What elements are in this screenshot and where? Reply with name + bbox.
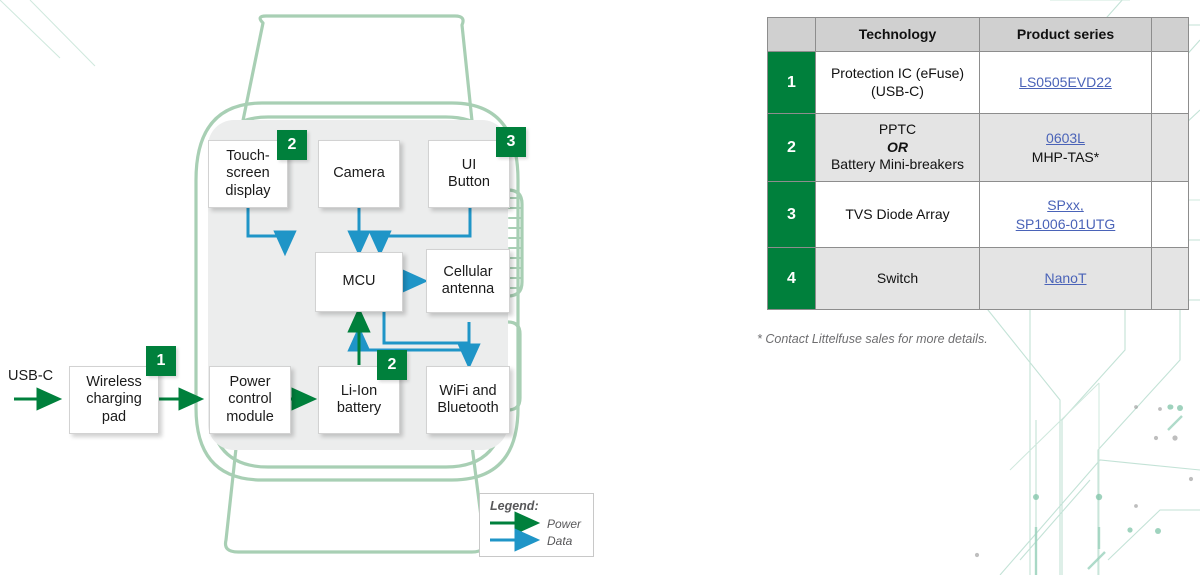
table-row[interactable]: 4 Switch NanoT [768, 248, 1189, 310]
row-technology-3: TVS Diode Array [816, 182, 980, 248]
row-products-4: NanoT [980, 248, 1152, 310]
product-selection-table: Technology Product series 1 Protection I… [767, 17, 1189, 310]
table-header-row: Technology Product series [768, 18, 1189, 52]
row-index-4: 4 [768, 248, 816, 310]
tech-line: PPTC [879, 121, 916, 137]
row-spacer-4 [1152, 248, 1189, 310]
block-label: Cellularantenna [442, 264, 494, 298]
tech-line-or: OR [887, 139, 908, 155]
row-index-1: 1 [768, 52, 816, 114]
legend-data-label: Data [547, 534, 572, 548]
row-spacer-1 [1152, 52, 1189, 114]
header-index [768, 18, 816, 52]
product-link[interactable]: SP1006-01UTG [1016, 216, 1116, 232]
tech-line: Switch [877, 270, 918, 286]
row-products-2: 0603L MHP-TAS* [980, 114, 1152, 182]
block-label: Li-Ionbattery [337, 383, 381, 417]
table-row[interactable]: 3 TVS Diode Array SPxx, SP1006-01UTG [768, 182, 1189, 248]
block-label: Touch-screendisplay [225, 148, 270, 199]
row-products-1: LS0505EVD22 [980, 52, 1152, 114]
badge-touchscreen-display[interactable]: 2 [277, 130, 307, 160]
badge-wireless-charging-pad[interactable]: 1 [146, 346, 176, 376]
row-spacer-3 [1152, 182, 1189, 248]
table-row[interactable]: 2 PPTC OR Battery Mini-breakers 0603L MH… [768, 114, 1189, 182]
power-wires [14, 311, 359, 399]
block-label: WiFi andBluetooth [437, 383, 498, 417]
tech-line: (USB-C) [871, 83, 924, 99]
block-label: MCU [342, 273, 375, 290]
tech-line: Protection IC (eFuse) [831, 65, 964, 81]
tech-line: TVS Diode Array [845, 206, 949, 222]
connector-wires [0, 0, 620, 575]
header-technology: Technology [816, 18, 980, 52]
table-body: 1 Protection IC (eFuse) (USB-C) LS0505EV… [768, 52, 1189, 310]
badge-ui-button[interactable]: 3 [496, 127, 526, 157]
block-label: Powercontrolmodule [226, 374, 274, 425]
row-products-3: SPxx, SP1006-01UTG [980, 182, 1152, 248]
header-spacer [1152, 18, 1189, 52]
row-index-2: 2 [768, 114, 816, 182]
badge-li-ion-battery[interactable]: 2 [377, 350, 407, 380]
product-link[interactable]: LS0505EVD22 [1019, 74, 1112, 90]
block-power-control-module[interactable]: Powercontrolmodule [209, 366, 291, 434]
block-wifi-and-bluetooth[interactable]: WiFi andBluetooth [426, 366, 510, 434]
usb-c-input-label: USB-C [8, 368, 53, 384]
product-link[interactable]: NanoT [1044, 270, 1086, 286]
legend-box: Legend: Power Data [479, 493, 594, 557]
block-label: Wirelesschargingpad [86, 374, 142, 425]
table-footnote: * Contact Littelfuse sales for more deta… [757, 332, 988, 346]
product-link[interactable]: SPxx, [1047, 197, 1084, 213]
legend-power-label: Power [547, 517, 581, 531]
block-wireless-charging-pad[interactable]: Wirelesschargingpad [69, 366, 159, 434]
row-technology-1: Protection IC (eFuse) (USB-C) [816, 52, 980, 114]
block-label: UIButton [448, 157, 490, 191]
smartwatch-block-diagram: USB-C Touch-screendisplay Camera UIButto… [0, 0, 620, 575]
row-spacer-2 [1152, 114, 1189, 182]
product-text: MHP-TAS* [1032, 149, 1099, 165]
product-link[interactable]: 0603L [1046, 130, 1085, 146]
table-row[interactable]: 1 Protection IC (eFuse) (USB-C) LS0505EV… [768, 52, 1189, 114]
block-camera[interactable]: Camera [318, 140, 400, 208]
row-technology-2: PPTC OR Battery Mini-breakers [816, 114, 980, 182]
block-label: Camera [333, 165, 385, 182]
row-technology-4: Switch [816, 248, 980, 310]
tech-line: Battery Mini-breakers [831, 156, 964, 172]
block-touchscreen-display[interactable]: Touch-screendisplay [208, 140, 288, 208]
header-product-series: Product series [980, 18, 1152, 52]
block-cellular-antenna[interactable]: Cellularantenna [426, 249, 510, 313]
block-mcu[interactable]: MCU [315, 252, 403, 312]
row-index-3: 3 [768, 182, 816, 248]
slide-canvas: USB-C Touch-screendisplay Camera UIButto… [0, 0, 1200, 575]
